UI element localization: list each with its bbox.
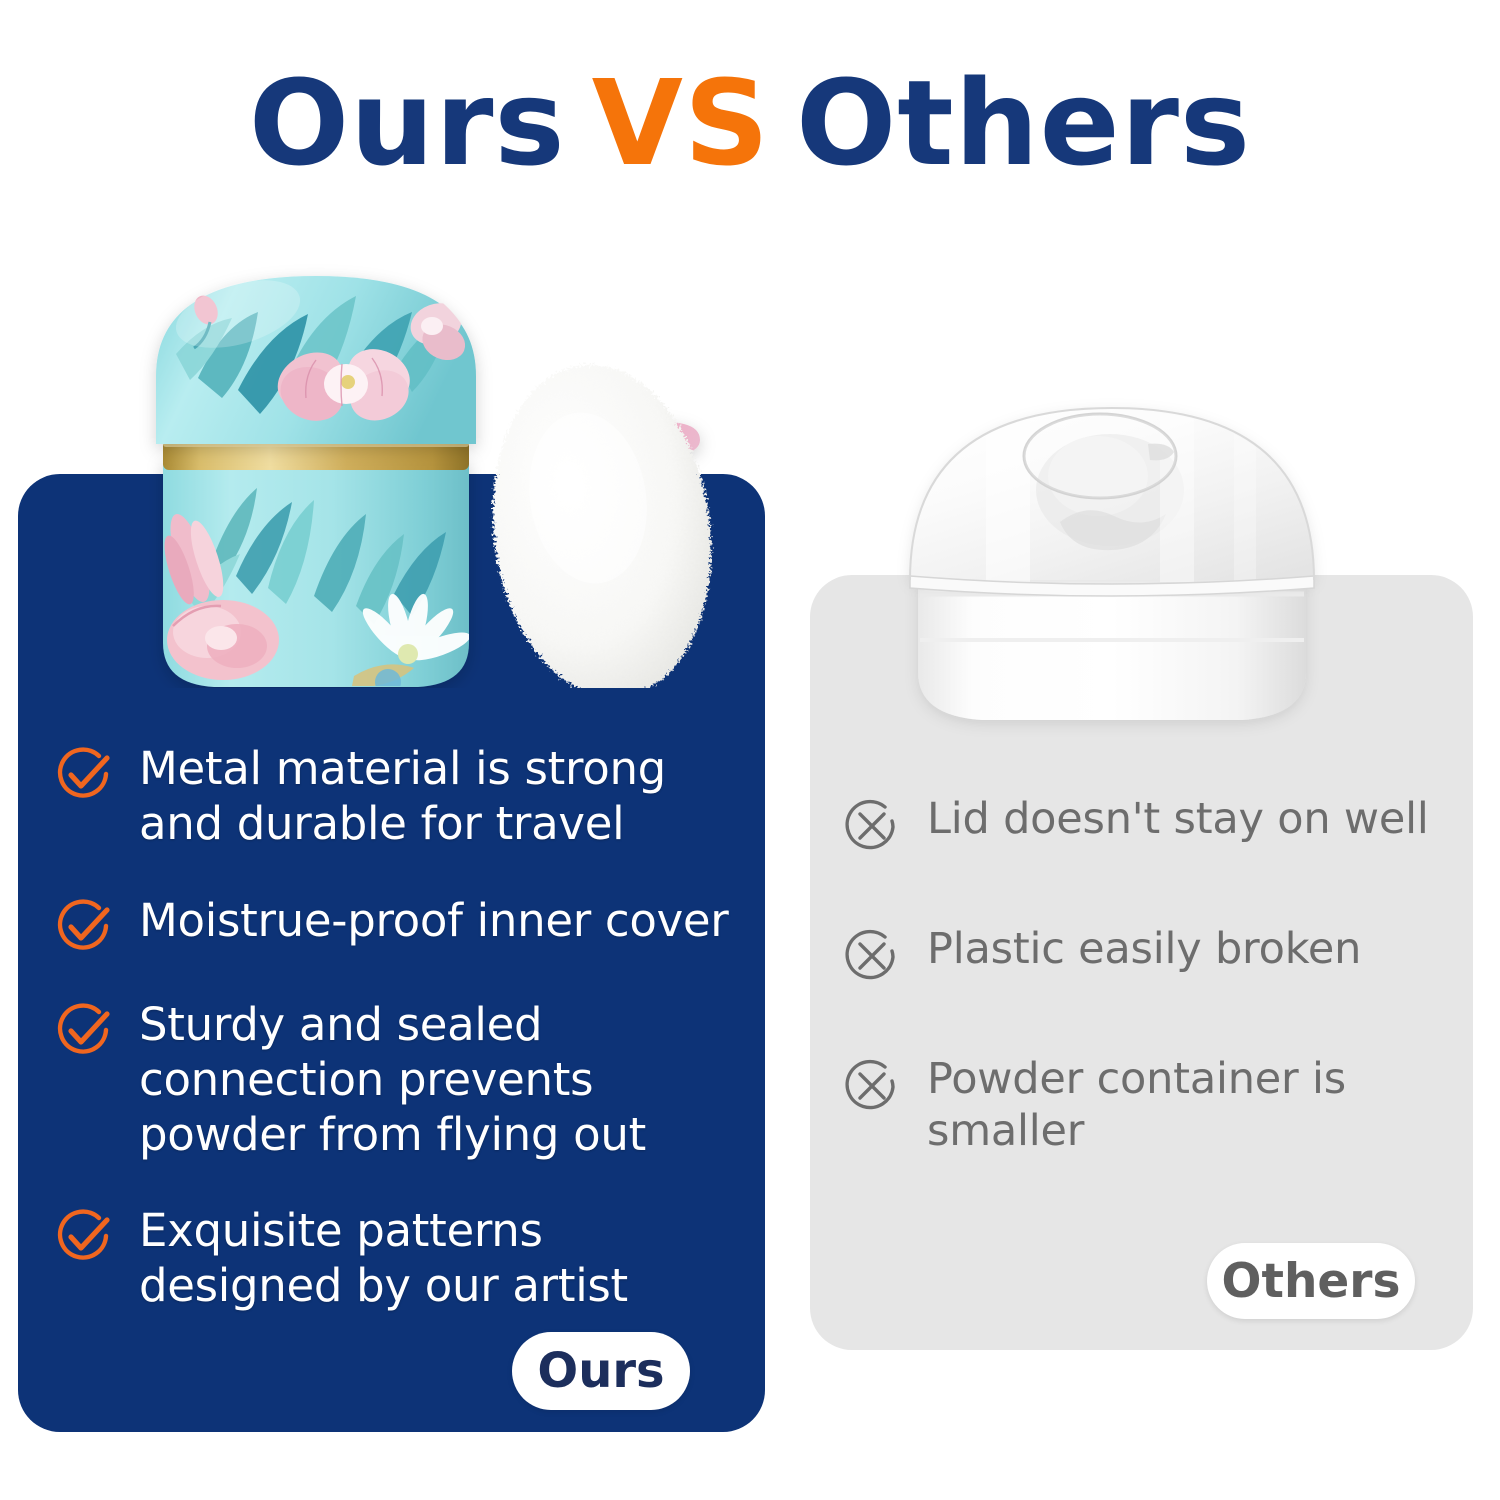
x-circle-icon bbox=[843, 1057, 901, 1115]
x-circle-icon bbox=[843, 927, 901, 985]
list-item: Metal material is strong and durable for… bbox=[55, 742, 745, 852]
title-part-vs: VS bbox=[592, 54, 770, 192]
list-item-label: Moistrue-proof inner cover bbox=[139, 894, 745, 949]
ours-badge: Ours bbox=[512, 1332, 690, 1410]
others-badge: Others bbox=[1207, 1243, 1415, 1319]
list-item-label: Lid doesn't stay on well bbox=[927, 793, 1463, 845]
list-item: Lid doesn't stay on well bbox=[843, 793, 1463, 855]
ours-product-image bbox=[118, 258, 748, 688]
title-part-ours: Ours bbox=[249, 54, 566, 192]
page-title: OursVSOthers bbox=[0, 62, 1500, 186]
comparison-infographic: OursVSOthers bbox=[0, 0, 1500, 1500]
check-circle-icon bbox=[55, 1208, 113, 1266]
list-item: Plastic easily broken bbox=[843, 923, 1463, 985]
list-item: Powder container is smaller bbox=[843, 1053, 1463, 1158]
others-feature-list: Lid doesn't stay on well Plastic easily … bbox=[843, 793, 1463, 1226]
list-item: Moistrue-proof inner cover bbox=[55, 894, 745, 956]
x-circle-icon bbox=[843, 797, 901, 855]
list-item: Sturdy and sealed connection prevents po… bbox=[55, 998, 745, 1163]
check-circle-icon bbox=[55, 898, 113, 956]
list-item-label: Metal material is strong and durable for… bbox=[139, 742, 745, 852]
list-item-label: Sturdy and sealed connection prevents po… bbox=[139, 998, 745, 1163]
list-item-label: Plastic easily broken bbox=[927, 923, 1463, 975]
title-part-others: Others bbox=[796, 54, 1251, 192]
list-item-label: Exquisite patterns designed by our artis… bbox=[139, 1204, 745, 1314]
others-product-image bbox=[862, 372, 1362, 744]
ours-feature-list: Metal material is strong and durable for… bbox=[55, 742, 745, 1356]
list-item-label: Powder container is smaller bbox=[927, 1053, 1463, 1158]
check-circle-icon bbox=[55, 1002, 113, 1060]
check-circle-icon bbox=[55, 746, 113, 804]
list-item: Exquisite patterns designed by our artis… bbox=[55, 1204, 745, 1314]
